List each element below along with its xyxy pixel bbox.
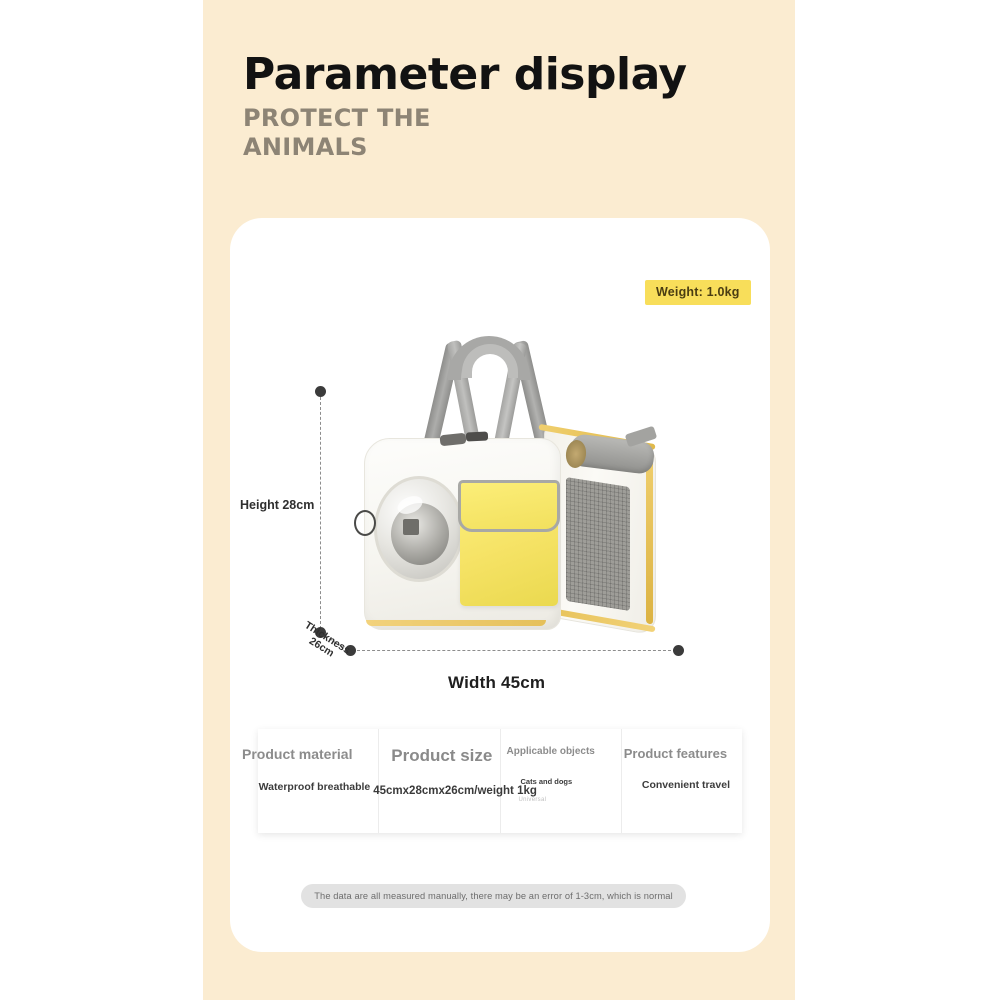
pet-face <box>403 519 419 535</box>
bubble-window <box>374 476 464 582</box>
width-dot-right <box>673 645 684 656</box>
top-clip-secondary <box>466 431 488 441</box>
page-subtitle: PROTECT THE ANIMALS <box>243 104 443 163</box>
spec-column-objects: Applicable objects Cats and dogs Univers… <box>501 729 622 833</box>
piping-body-bottom <box>366 620 546 626</box>
mesh-ventilation-panel <box>566 477 630 611</box>
spec-header-material: Product material <box>242 746 352 762</box>
header: Parameter display PROTECT THE ANIMALS <box>243 52 763 163</box>
width-dimension-line <box>352 650 676 651</box>
height-dot-top <box>315 386 326 397</box>
disclaimer-text: The data are all measured manually, ther… <box>314 891 672 901</box>
spec-table: Product material Waterproof breathable P… <box>258 729 742 833</box>
product-image <box>330 330 700 660</box>
disclaimer-banner: The data are all measured manually, ther… <box>301 884 686 908</box>
spec-column-size: Product size 45cmx28cmx26cm/weight 1kg <box>379 729 500 833</box>
weight-badge: Weight: 1.0kg <box>645 280 751 305</box>
spec-value-material: Waterproof breathable <box>259 781 371 794</box>
spec-header-objects: Applicable objects <box>507 746 595 757</box>
spec-column-features: Product features Convenient travel <box>622 729 742 833</box>
d-ring-icon <box>354 510 376 536</box>
spec-header-features: Product features <box>624 746 727 761</box>
front-pocket-flap <box>458 480 560 532</box>
spec-value-objects: Cats and dogs <box>521 777 573 786</box>
height-label: Height 28cm <box>240 498 314 512</box>
spec-value-features: Convenient travel <box>642 779 730 792</box>
width-label: Width 45cm <box>448 673 545 693</box>
piping-right <box>646 448 653 625</box>
page-title: Parameter display <box>243 52 763 98</box>
spec-header-size: Product size <box>391 746 492 766</box>
spec-column-material: Product material Waterproof breathable <box>258 729 379 833</box>
spec-subvalue-objects: Universal <box>519 797 547 803</box>
height-dimension-line <box>320 397 321 629</box>
